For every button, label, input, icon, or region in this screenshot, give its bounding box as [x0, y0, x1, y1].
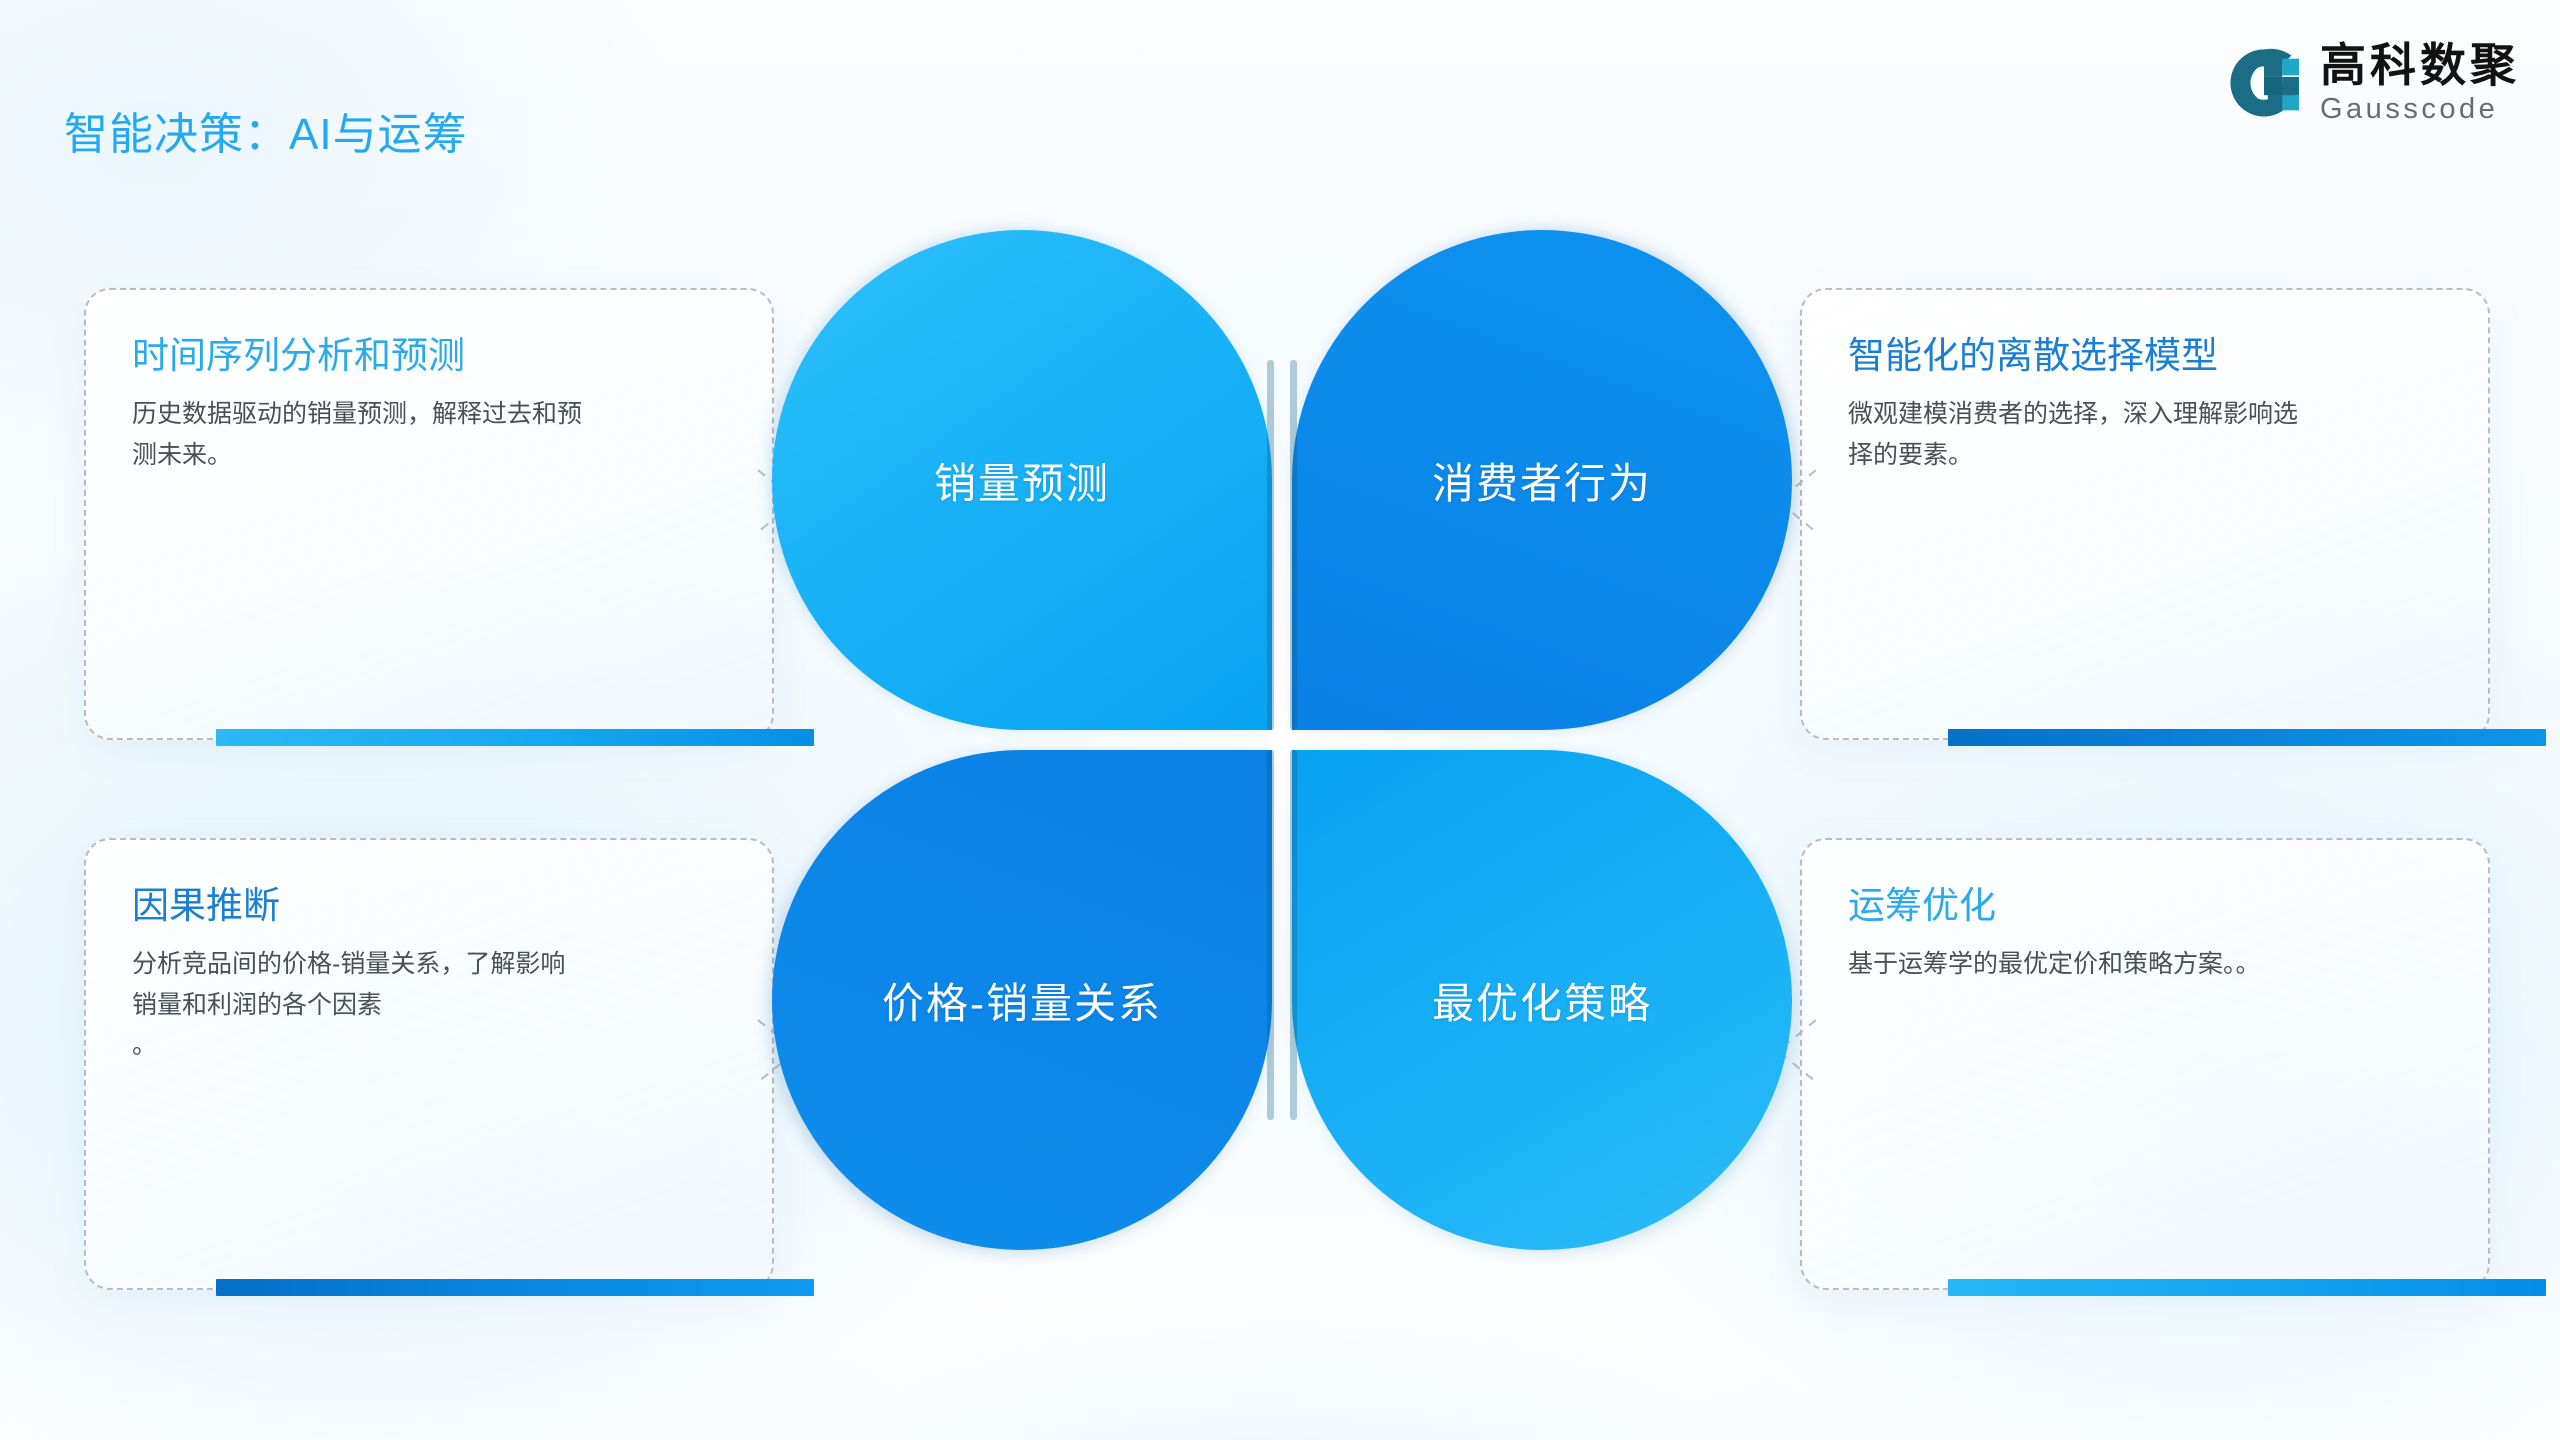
page-title: 智能决策：AI与运筹	[64, 98, 468, 162]
card-title: 智能化的离散选择模型	[1848, 334, 2442, 378]
petal-label: 消费者行为	[1432, 450, 1652, 511]
card-accent-bar	[1948, 729, 2546, 746]
card-title: 因果推断	[132, 884, 726, 928]
brand-logo: 高科数聚 Gausscode	[2226, 42, 2520, 124]
four-petal-diagram: 销量预测 消费者行为 价格-销量关系 最优化策略	[772, 230, 1792, 1250]
feature-card-discrete-choice[interactable]: 智能化的离散选择模型 微观建模消费者的选择，深入理解影响选 择的要素。	[1800, 288, 2490, 740]
logo-text-en: Gausscode	[2320, 95, 2520, 124]
card-body: 基于运筹学的最优定价和策略方案。。	[1848, 944, 2442, 985]
petal-label: 最优化策略	[1432, 970, 1652, 1031]
card-body: 历史数据驱动的销量预测，解释过去和预 测未来。	[132, 394, 726, 475]
feature-card-causal-inference[interactable]: 因果推断 分析竞品间的价格-销量关系，了解影响 销量和利润的各个因素 。	[84, 838, 774, 1290]
logo-text-cn: 高科数聚	[2320, 42, 2520, 88]
card-title: 运筹优化	[1848, 884, 2442, 928]
card-title: 时间序列分析和预测	[132, 334, 726, 378]
card-accent-bar	[216, 1279, 814, 1296]
petal-price-volume-relation[interactable]: 价格-销量关系	[772, 750, 1272, 1250]
petal-optimization-strategy[interactable]: 最优化策略	[1292, 750, 1792, 1250]
petal-sales-forecast[interactable]: 销量预测	[772, 230, 1272, 730]
gausscode-logo-icon	[2226, 45, 2302, 121]
card-body: 微观建模消费者的选择，深入理解影响选 择的要素。	[1848, 394, 2442, 475]
feature-card-time-series[interactable]: 时间序列分析和预测 历史数据驱动的销量预测，解释过去和预 测未来。	[84, 288, 774, 740]
card-accent-bar	[1948, 1279, 2546, 1296]
petal-label: 销量预测	[934, 450, 1110, 511]
petal-label: 价格-销量关系	[882, 970, 1162, 1031]
feature-card-operations-research[interactable]: 运筹优化 基于运筹学的最优定价和策略方案。。	[1800, 838, 2490, 1290]
petal-consumer-behavior[interactable]: 消费者行为	[1292, 230, 1792, 730]
card-body: 分析竞品间的价格-销量关系，了解影响 销量和利润的各个因素 。	[132, 944, 726, 1066]
card-accent-bar	[216, 729, 814, 746]
